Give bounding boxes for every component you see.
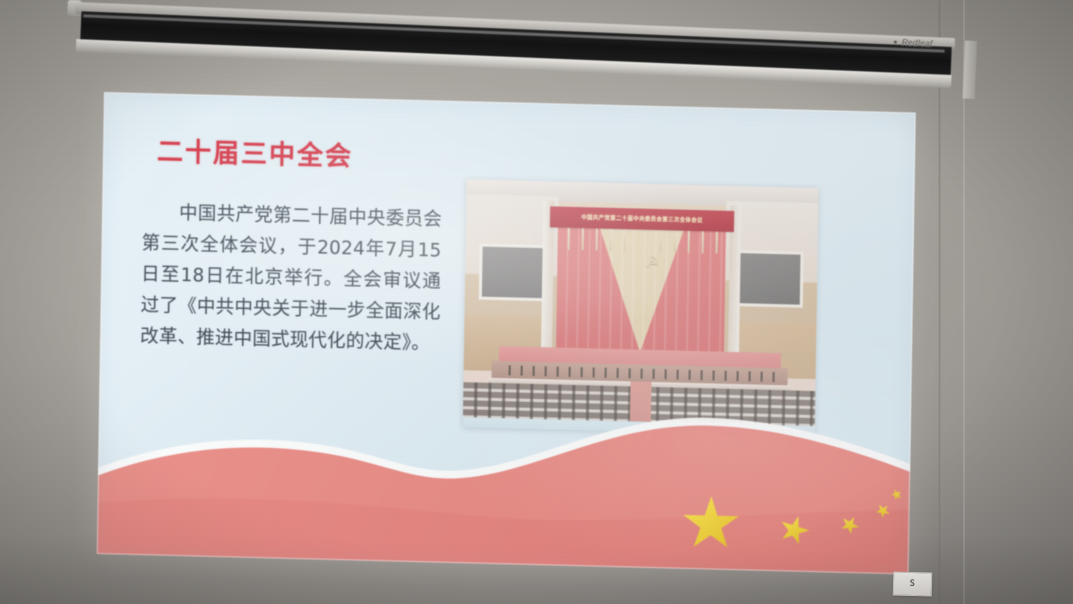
flag-star-3 [837, 513, 862, 538]
cpc-hammer-sickle-icon: ☭ [632, 245, 671, 278]
photo-flagpole-1 [568, 228, 570, 250]
photo-flagpole-4 [610, 229, 612, 251]
classroom-wall-scene: Redleaf 二十届三中全会 中国共产党第二十届中央委员会第三次全体会议，于2… [0, 0, 1073, 604]
wall-sticker-label: S [909, 579, 915, 589]
photo-flagpole-5 [624, 229, 626, 251]
photo-flagpole-10 [715, 231, 717, 253]
projector-screen-brand-label: Redleaf [902, 38, 933, 48]
slide-body-text: 中国共产党第二十届中央委员会第三次全体会议，于2024年7月15日至18日在北京… [140, 197, 442, 360]
housing-wall-bracket [963, 40, 977, 98]
slide-title: 二十届三中全会 [157, 131, 354, 173]
flag-star-5 [888, 487, 904, 503]
wall-sticker: S [893, 571, 933, 596]
photo-flagpole-8 [687, 231, 689, 253]
slide-canvas: 二十届三中全会 中国共产党第二十届中央委员会第三次全体会议，于2024年7月15… [97, 92, 916, 574]
projected-slide[interactable]: 二十届三中全会 中国共产党第二十届中央委员会第三次全体会议，于2024年7月15… [97, 92, 916, 574]
conference-hall-photo: ☭ 中国共产党第二十届中央委员会第三次全体会议 [463, 179, 819, 436]
photo-flagpole-9 [701, 231, 703, 253]
flag-star-4 [873, 500, 894, 520]
photo-banner-text: 中国共产党第二十届中央委员会第三次全体会议 [581, 213, 703, 224]
brand-logo-dot [894, 41, 897, 44]
photo-flagpole-2 [582, 228, 584, 250]
photo-wall-panel-left [479, 244, 546, 301]
photo-flagpole-7 [673, 230, 675, 252]
flag-star-large [681, 495, 740, 552]
flag-star-2 [776, 512, 813, 549]
photo-wall-panel-right [737, 251, 804, 308]
photo-flagpole-3 [596, 228, 598, 250]
